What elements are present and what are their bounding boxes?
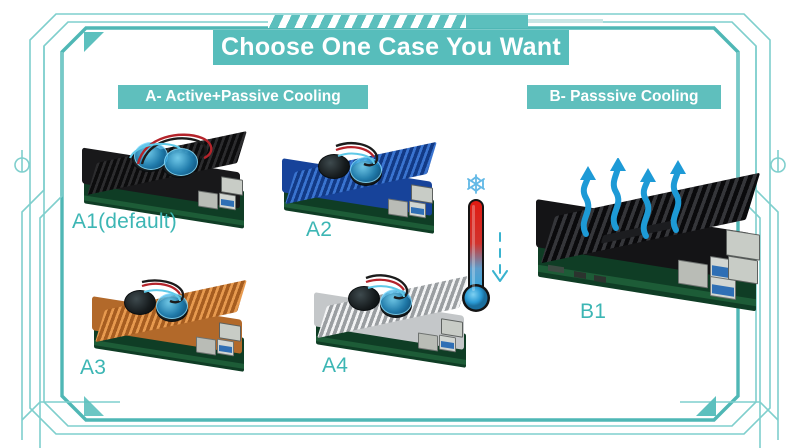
snowflake-icon bbox=[468, 175, 484, 193]
decrease-arrow-icon bbox=[493, 233, 507, 281]
product-a3: A3 bbox=[88, 278, 263, 383]
heat-flow-arrows bbox=[558, 158, 728, 248]
product-a2: A2 bbox=[278, 140, 453, 245]
product-b1: B1 bbox=[530, 170, 780, 335]
product-a1: A1(default) bbox=[78, 128, 258, 238]
temperature-indicator bbox=[455, 155, 515, 320]
product-label-a2: A2 bbox=[306, 218, 332, 242]
section-label-a: A- Active+Passive Cooling bbox=[118, 85, 368, 109]
stripe-solid-block bbox=[466, 15, 528, 28]
fan-wire bbox=[126, 278, 226, 312]
product-infographic: Choose One Case You Want A- Active+Passi… bbox=[0, 0, 800, 448]
section-label-b: B- Passsive Cooling bbox=[527, 85, 721, 109]
fan-wire bbox=[350, 272, 450, 308]
fan-wire bbox=[118, 128, 228, 168]
product-label-b1: B1 bbox=[580, 300, 606, 324]
page-title: Choose One Case You Want bbox=[213, 30, 569, 65]
product-label-a1: A1(default) bbox=[72, 210, 177, 234]
product-label-a4: A4 bbox=[322, 354, 348, 378]
fan-wire bbox=[318, 140, 418, 176]
stripe-tail-line bbox=[528, 19, 603, 23]
product-label-a3: A3 bbox=[80, 356, 106, 380]
